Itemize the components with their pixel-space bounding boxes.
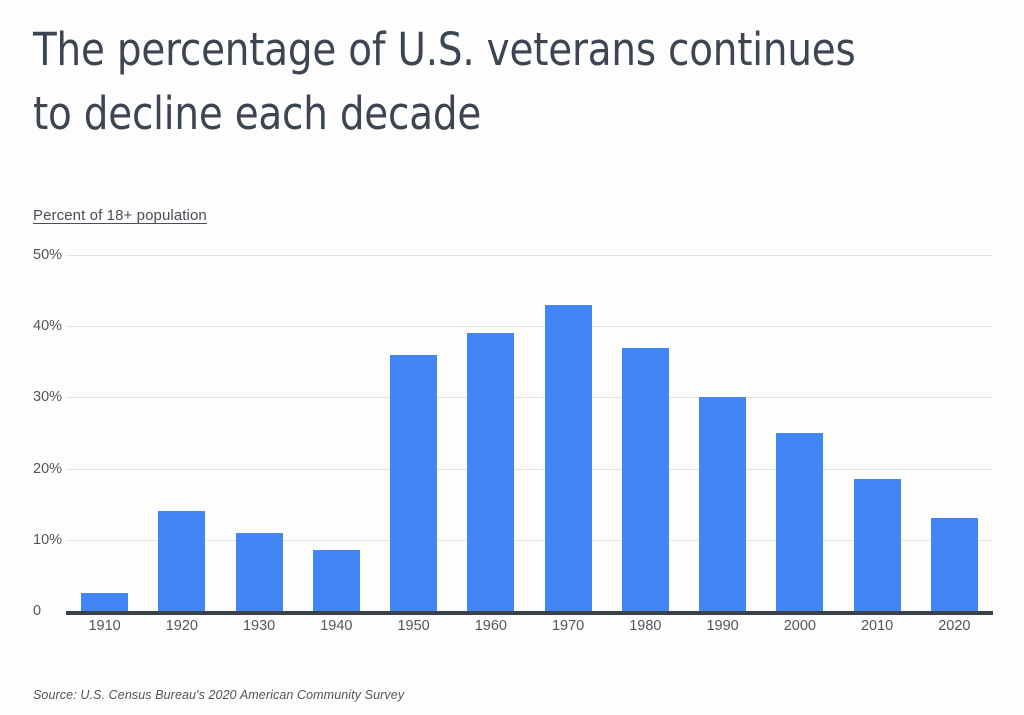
bar[interactable] <box>390 355 437 611</box>
source-note: Source: U.S. Census Bureau's 2020 Americ… <box>33 688 404 702</box>
x-tick-label: 2010 <box>839 618 916 634</box>
bar[interactable] <box>236 533 283 611</box>
x-tick-label: 1930 <box>221 618 298 634</box>
bar[interactable] <box>545 305 592 611</box>
y-tick-label: 30% <box>33 389 62 405</box>
bar[interactable] <box>81 593 128 611</box>
x-tick-label: 1950 <box>375 618 452 634</box>
bar[interactable] <box>931 518 978 611</box>
y-tick-label: 50% <box>33 247 62 263</box>
x-axis-line <box>66 611 993 615</box>
y-tick-label: 0 <box>33 603 41 619</box>
x-tick-label: 1960 <box>452 618 529 634</box>
bar[interactable] <box>854 479 901 611</box>
y-tick-label: 40% <box>33 318 62 334</box>
x-tick-label: 1940 <box>298 618 375 634</box>
y-tick-label: 20% <box>33 461 62 477</box>
bars-layer <box>66 255 993 611</box>
x-tick-label: 1910 <box>66 618 143 634</box>
x-tick-label: 1980 <box>607 618 684 634</box>
bar[interactable] <box>699 397 746 611</box>
x-tick-label: 2020 <box>916 618 993 634</box>
bar[interactable] <box>776 433 823 611</box>
bar[interactable] <box>158 511 205 611</box>
y-axis-unit-label: Percent of 18+ population <box>33 207 207 224</box>
bar[interactable] <box>622 348 669 611</box>
page-title: The percentage of U.S. veterans continue… <box>33 18 979 146</box>
y-axis-tick-labels: 010%20%30%40%50% <box>33 255 66 611</box>
plot-area <box>66 255 993 611</box>
x-tick-label: 1970 <box>530 618 607 634</box>
bar[interactable] <box>467 333 514 611</box>
bar[interactable] <box>313 550 360 611</box>
chart-container: The percentage of U.S. veterans continue… <box>0 0 1024 715</box>
x-tick-label: 2000 <box>761 618 838 634</box>
x-tick-label: 1990 <box>684 618 761 634</box>
y-tick-label: 10% <box>33 532 62 548</box>
x-axis-tick-labels: 1910192019301940195019601970198019902000… <box>66 618 993 644</box>
x-tick-label: 1920 <box>143 618 220 634</box>
title-block: The percentage of U.S. veterans continue… <box>33 18 1018 146</box>
